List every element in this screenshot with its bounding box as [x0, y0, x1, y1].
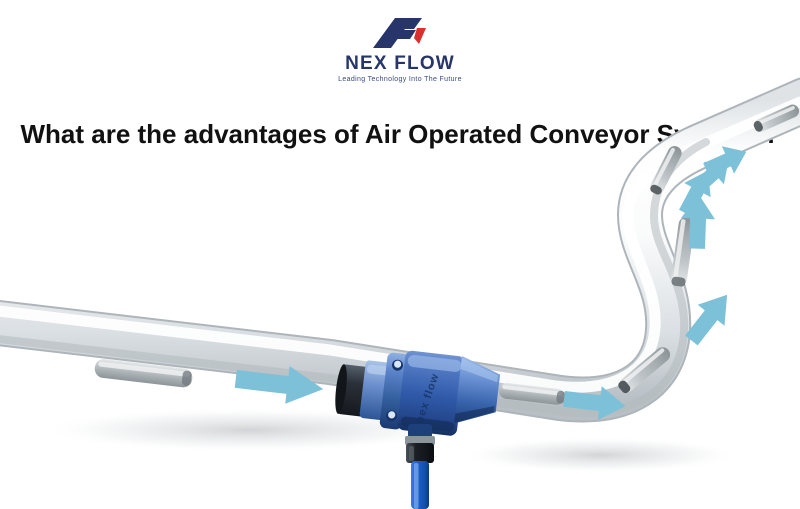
slide-canvas: NEX FLOW Leading Technology Into The Fut… [0, 0, 800, 509]
compressed-air-hose [411, 461, 429, 509]
device-air-inlet-boss [408, 424, 432, 438]
conveyor-illustration: nex flow [0, 0, 800, 509]
device-shadow [460, 437, 740, 473]
hose-highlight [414, 463, 419, 509]
